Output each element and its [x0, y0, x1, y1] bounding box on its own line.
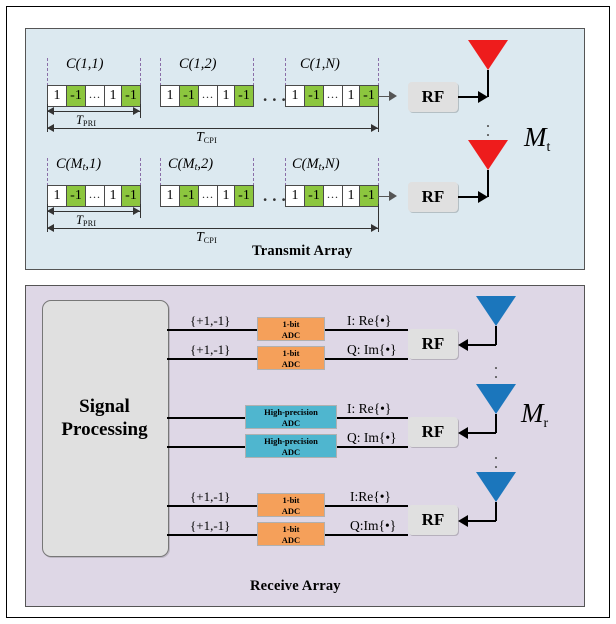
code-cell: 1 [104, 85, 122, 107]
tx-row1-pri-cap-right [140, 104, 141, 118]
cpi-symbol: T [196, 230, 204, 245]
tx-row1-pri-arrowhead-left [47, 107, 54, 115]
receive-antenna-icon-2 [476, 384, 516, 414]
signal-processing-label: Signal Processing [42, 395, 167, 441]
rx-rf-block-2[interactable]: RF [408, 417, 458, 447]
tx-row2-pri-arrowhead-right [133, 207, 140, 215]
tx-row2-cpi-cap-right [378, 204, 379, 232]
adc-line-1: 1-bit [258, 348, 324, 359]
rx-chain1-q-adc[interactable]: 1-bit ADC [257, 346, 325, 370]
transmit-antenna-count-label: Mt [524, 122, 550, 156]
tx-rf-block-2[interactable]: RF [408, 182, 458, 212]
code-cell: 1 [217, 85, 235, 107]
tx-row2-pri-arrowhead-left [47, 207, 54, 215]
cpi-symbol: T [196, 130, 204, 145]
tx-row1-block-n: 1 -1 ... 1 -1 [285, 85, 378, 107]
receive-antenna-icon-1 [476, 296, 516, 326]
pri-subscript: PRI [83, 219, 96, 228]
mr-subscript: r [544, 416, 549, 431]
rx-chain1-i-wire-out [325, 329, 408, 331]
tx-row1-cpi-arrowhead-right [371, 124, 378, 132]
rx-chain2-q-label: Q: Im{•} [347, 430, 397, 446]
adc-line-1: 1-bit [258, 319, 324, 330]
tx-row2-block-2: 1 -1 ... 1 -1 [160, 185, 253, 207]
rx-chain2-i-adc[interactable]: High-precision ADC [245, 405, 337, 429]
rx-chain1-i-adc[interactable]: 1-bit ADC [257, 317, 325, 341]
mr-symbol: M [521, 398, 544, 428]
rx-antenna-to-rf-line-1 [466, 344, 496, 346]
rx-antenna-stem-3 [495, 502, 497, 521]
adc-line-2: ADC [258, 506, 324, 517]
rx-antenna-to-rf-arrow-2 [458, 427, 468, 439]
rx-chain1-q-wire-in [167, 358, 258, 360]
rx-chain3-i-label: I:Re{•} [350, 489, 391, 505]
tx-row1-pri-label: TPRI [76, 113, 96, 128]
tx-row1-cpi-label: TCPI [196, 130, 217, 146]
adc-line-1: 1-bit [258, 495, 324, 506]
tx-row2-block-label-3: C(Mt,N) [292, 156, 340, 173]
adc-line-1: 1-bit [258, 524, 324, 535]
rx-chain2-i-label: I: Re{•} [347, 401, 391, 417]
rx-chain3-i-quant-label: {+1,-1} [190, 489, 230, 505]
mt-symbol: M [524, 122, 547, 152]
tx-antenna-stem-2 [487, 170, 489, 197]
tx-row2-block-n: 1 -1 ... 1 -1 [285, 185, 378, 207]
code-cell: -1 [234, 85, 254, 107]
tx-row1-block-label-2: C(1,2) [179, 56, 216, 73]
code-cell: -1 [121, 85, 141, 107]
tx-row2-cpi-arrow [47, 228, 378, 229]
code-cell: 1 [47, 85, 67, 107]
code-cell-ellipsis: ... [85, 185, 105, 207]
rx-chain1-q-quant-label: {+1,-1} [190, 342, 230, 358]
tx-row1-pri-arrow [47, 111, 140, 112]
rx-chain1-q-label: Q: Im{•} [347, 342, 397, 358]
code-cell-ellipsis: ... [198, 185, 218, 207]
rx-antenna-stem-1 [495, 326, 497, 345]
code-cell: 1 [342, 85, 360, 107]
tx-row2-cpi-arrowhead-right [371, 224, 378, 232]
rx-chain1-i-wire-in [167, 329, 258, 331]
transmit-antenna-icon-2 [468, 140, 508, 170]
code-cell-ellipsis: ... [323, 85, 343, 107]
pri-symbol: T [76, 113, 83, 127]
tx-row2-pri-label: TPRI [76, 213, 96, 228]
rx-chain2-q-wire-out [337, 446, 408, 448]
rx-chain3-i-wire-out [325, 505, 408, 507]
code-cell-ellipsis: ... [85, 85, 105, 107]
code-cell: -1 [359, 185, 379, 207]
code-cell: 1 [285, 85, 305, 107]
code-cell: 1 [160, 85, 180, 107]
code-cell: -1 [179, 185, 199, 207]
tx-row1-cpi-arrow [47, 128, 378, 129]
tx-row1-cpi-cap-right [378, 104, 379, 132]
code-cell: -1 [66, 85, 86, 107]
adc-line-2: ADC [246, 447, 336, 458]
code-cell-ellipsis: ... [323, 185, 343, 207]
adc-line-2: ADC [258, 330, 324, 341]
rx-chain3-q-adc[interactable]: 1-bit ADC [257, 522, 325, 546]
rx-chain1-i-label: I: Re{•} [347, 313, 391, 329]
code-cell: 1 [342, 185, 360, 207]
rx-antenna-to-rf-arrow-3 [458, 515, 468, 527]
code-cell: -1 [234, 185, 254, 207]
pri-symbol: T [76, 213, 83, 227]
figure-canvas: C(1,1) C(1,2) C(1,N) 1 -1 ... 1 -1 1 -1 … [0, 0, 616, 624]
tx-row2-pri-arrow [47, 211, 140, 212]
tx-row2-block-label-1: C(Mt,1) [56, 156, 101, 173]
rx-chain3-q-label: Q:Im{•} [350, 518, 396, 534]
rx-antenna-ellipsis-1: ... [490, 360, 502, 387]
tx-row1-block-1: 1 -1 ... 1 -1 [47, 85, 140, 107]
tx-row1-cpi-arrowhead-left [47, 124, 54, 132]
mt-subscript: t [547, 140, 551, 155]
adc-line-2: ADC [258, 359, 324, 370]
cpi-subscript: CPI [204, 236, 217, 245]
rx-antenna-to-rf-line-2 [466, 432, 496, 434]
adc-line-1: High-precision [246, 407, 336, 418]
rx-antenna-stem-2 [495, 414, 497, 433]
rx-chain1-q-wire-out [325, 358, 408, 360]
code-cell: 1 [104, 185, 122, 207]
tx-row1-block-label-1: C(1,1) [66, 56, 103, 73]
rx-chain3-i-wire-in [167, 505, 258, 507]
receive-array-title: Receive Array [250, 578, 341, 595]
pri-subscript: PRI [83, 119, 96, 128]
rx-chain3-q-wire-in [167, 534, 258, 536]
rx-rf-block-1[interactable]: RF [408, 329, 458, 359]
rx-antenna-to-rf-line-3 [466, 520, 496, 522]
code-cell: -1 [179, 85, 199, 107]
transmit-array-title: Transmit Array [252, 243, 352, 260]
rx-chain1-i-quant-label: {+1,-1} [190, 313, 230, 329]
cpi-subscript: CPI [204, 136, 217, 145]
adc-line-1: High-precision [246, 436, 336, 447]
tx-row1-block-label-3: C(1,N) [300, 56, 340, 73]
signal-processing-line-1: Signal [42, 395, 167, 418]
code-cell: -1 [359, 85, 379, 107]
code-cell: -1 [121, 185, 141, 207]
adc-line-2: ADC [258, 535, 324, 546]
receive-antenna-count-label: Mr [521, 398, 548, 432]
rx-chain3-q-wire-out [325, 534, 408, 536]
adc-line-2: ADC [246, 418, 336, 429]
transmit-antenna-icon-1 [468, 40, 508, 70]
code-cell: -1 [304, 185, 324, 207]
tx-antenna-stem-1 [487, 70, 489, 97]
rx-chain2-q-adc[interactable]: High-precision ADC [245, 434, 337, 458]
code-cell-ellipsis: ... [198, 85, 218, 107]
tx-rf-block-1[interactable]: RF [408, 82, 458, 112]
code-cell: 1 [47, 185, 67, 207]
rx-antenna-to-rf-arrow-1 [458, 339, 468, 351]
tx-row2-pri-cap-right [140, 204, 141, 218]
tx-row1-pri-arrowhead-right [133, 107, 140, 115]
tx-row2-cpi-arrowhead-left [47, 224, 54, 232]
tx-row2-time-axis-arrow [389, 191, 397, 201]
tx-row1-time-axis-arrow [389, 91, 397, 101]
code-cell: -1 [304, 85, 324, 107]
code-cell: -1 [66, 185, 86, 207]
code-cell: 1 [217, 185, 235, 207]
rx-chain2-i-wire-out [337, 417, 408, 419]
receive-antenna-icon-3 [476, 472, 516, 502]
tx-row2-cpi-label: TCPI [196, 230, 217, 246]
code-cell: 1 [285, 185, 305, 207]
rx-chain3-q-quant-label: {+1,-1} [190, 518, 230, 534]
signal-processing-line-2: Processing [42, 418, 167, 441]
code-cell: 1 [160, 185, 180, 207]
rx-chain3-i-adc[interactable]: 1-bit ADC [257, 493, 325, 517]
tx-row2-block-1: 1 -1 ... 1 -1 [47, 185, 140, 207]
tx-row2-block-label-2: C(Mt,2) [168, 156, 213, 173]
tx-row1-block-2: 1 -1 ... 1 -1 [160, 85, 253, 107]
rx-rf-block-3[interactable]: RF [408, 505, 458, 535]
